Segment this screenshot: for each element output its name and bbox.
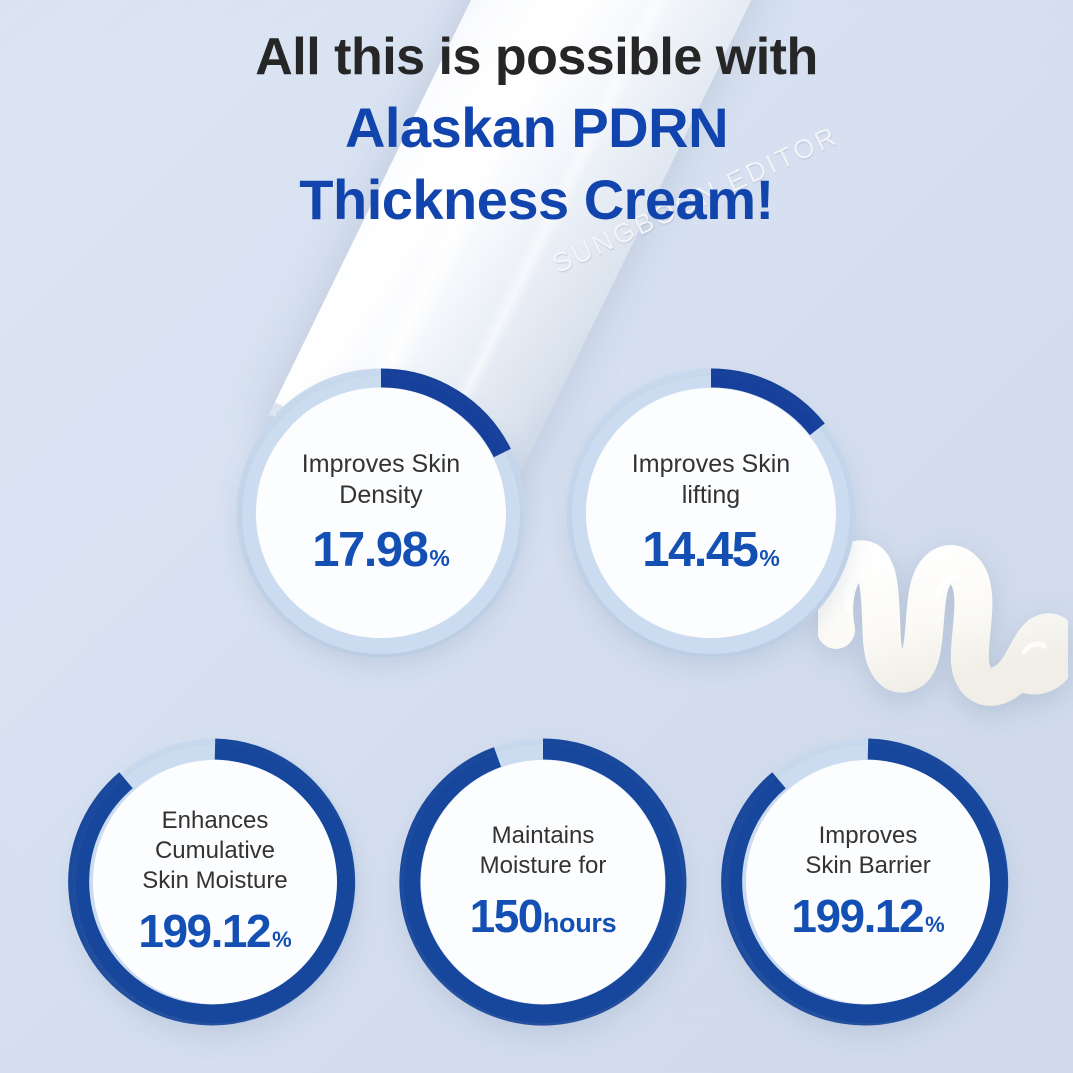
donut-center-content: Enhances Cumulative Skin Moisture 199.12…: [70, 737, 360, 1027]
donut-value: 199.12 %: [791, 889, 944, 943]
donut-value-number: 199.12: [138, 904, 270, 958]
donut-value-unit: hours: [543, 908, 617, 939]
donut-value-number: 199.12: [791, 889, 923, 943]
caption-line: Density: [302, 480, 460, 512]
stat-donut-skin-lifting: Improves Skin lifting 14.45 %: [566, 368, 856, 658]
donut-caption: Improves Skin lifting: [632, 449, 790, 512]
donut-value-number: 14.45: [642, 522, 757, 578]
donut-value: 150 hours: [470, 889, 617, 943]
headline-line-3: Thickness Cream!: [0, 164, 1073, 237]
donut-caption: Improves Skin Barrier: [805, 821, 930, 881]
stat-donut-skin-density: Improves Skin Density 17.98 %: [236, 368, 526, 658]
stat-donut-skin-barrier: Improves Skin Barrier 199.12 %: [723, 737, 1013, 1027]
caption-line: Improves Skin: [302, 449, 460, 481]
donut-value: 14.45 %: [642, 522, 780, 578]
page-title: All this is possible with Alaskan PDRN T…: [0, 24, 1073, 237]
donut-value: 17.98 %: [312, 522, 450, 578]
donut-center-content: Maintains Moisture for 150 hours: [398, 737, 688, 1027]
donut-caption: Enhances Cumulative Skin Moisture: [142, 806, 287, 897]
caption-line: Improves: [805, 821, 930, 851]
donut-caption: Improves Skin Density: [302, 449, 460, 512]
caption-line: Maintains: [480, 821, 607, 851]
headline-line-2: Alaskan PDRN: [0, 92, 1073, 165]
stat-donut-cumulative-skin-moisture: Enhances Cumulative Skin Moisture 199.12…: [70, 737, 360, 1027]
donut-value-unit: %: [272, 927, 292, 953]
donut-value-number: 150: [470, 889, 542, 943]
donut-value-number: 17.98: [312, 522, 427, 578]
caption-line: Cumulative: [142, 836, 287, 866]
caption-line: lifting: [632, 480, 790, 512]
caption-line: Skin Barrier: [805, 851, 930, 881]
infographic-canvas: SUNGBOON EDITOR All this is possible wit…: [0, 0, 1073, 1073]
caption-line: Enhances: [142, 806, 287, 836]
donut-center-content: Improves Skin Density 17.98 %: [236, 368, 526, 658]
donut-center-content: Improves Skin Barrier 199.12 %: [723, 737, 1013, 1027]
donut-value-unit: %: [759, 545, 779, 572]
donut-value: 199.12 %: [138, 904, 291, 958]
donut-value-unit: %: [429, 545, 449, 572]
donut-value-unit: %: [925, 912, 945, 938]
headline-line-1: All this is possible with: [0, 24, 1073, 92]
caption-line: Improves Skin: [632, 449, 790, 481]
stat-donut-moisture-duration: Maintains Moisture for 150 hours: [398, 737, 688, 1027]
caption-line: Skin Moisture: [142, 866, 287, 896]
donut-caption: Maintains Moisture for: [480, 821, 607, 881]
caption-line: Moisture for: [480, 851, 607, 881]
donut-center-content: Improves Skin lifting 14.45 %: [566, 368, 856, 658]
